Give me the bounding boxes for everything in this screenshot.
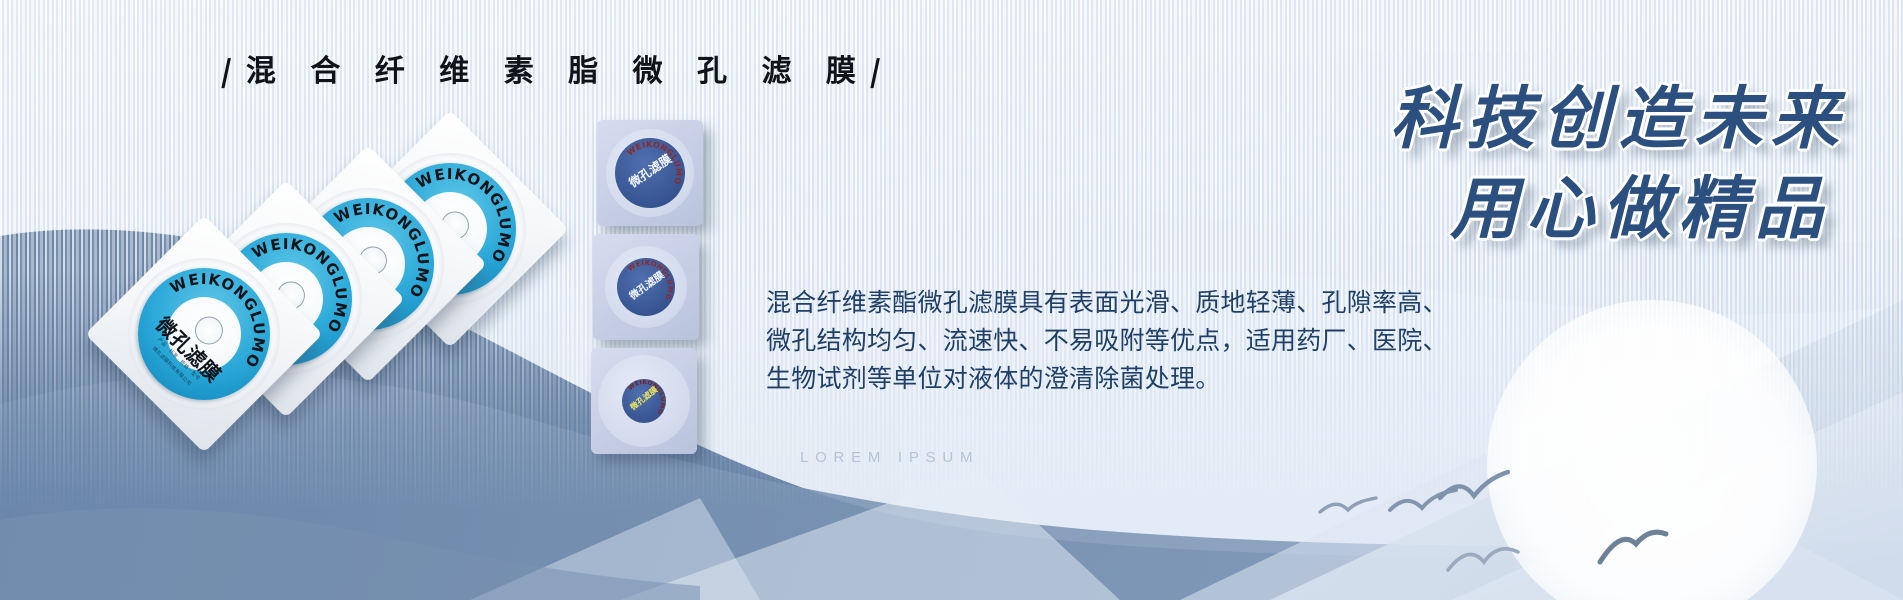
membrane-sample: WEIKONGLUMO 微孔滤膜	[597, 120, 703, 226]
promo-banner: |混 合 纤 维 素 脂 微 孔 滤 膜| WEIKONGLUMO 微孔滤膜	[0, 0, 1903, 600]
description-paragraph: 混合纤维素酯微孔滤膜具有表面光滑、质地轻薄、孔隙率高、 微孔结构均匀、流速快、不…	[766, 284, 1466, 398]
membrane-sample: WEIKONGLUMO 微孔滤膜	[593, 234, 699, 340]
membrane-sample: WEIKONGLUMO 微孔滤膜	[591, 348, 697, 454]
sample-label: WEIKONGLUMO 微孔滤膜	[622, 379, 666, 423]
description-line-2: 微孔结构均匀、流速快、不易吸附等优点，适用药厂、医院、	[766, 322, 1466, 360]
headline-line-2: 用心做精品	[1450, 176, 1831, 244]
bird-icon	[1448, 549, 1518, 570]
membrane-sample-column: WEIKONGLUMO 微孔滤膜 WEIKONGLUMO 微孔滤膜	[591, 120, 721, 450]
product-pack-stack: WEIKONGLUMO 微孔滤膜 产品 · 标准 · 规格 · 型号 微孔滤膜科…	[120, 135, 540, 415]
bird-icon	[1320, 498, 1376, 512]
title-slash-left: |	[215, 54, 249, 89]
title-text: 混 合 纤 维 素 脂 微 孔 滤 膜	[246, 54, 868, 89]
bird-icon	[1600, 532, 1666, 562]
description-line-1: 混合纤维素酯微孔滤膜具有表面光滑、质地轻薄、孔隙率高、	[766, 284, 1466, 322]
watermark-text: LOREM IPSUM	[800, 449, 979, 466]
headline-line-1: 科技创造未来	[1390, 86, 1847, 154]
description-line-3: 生物试剂等单位对液体的澄清除菌处理。	[766, 360, 1466, 398]
sample-label: WEIKONGLUMO 微孔滤膜	[615, 138, 685, 208]
section-title: |混 合 纤 维 素 脂 微 孔 滤 膜|	[219, 46, 895, 90]
bird-icon	[1440, 472, 1508, 498]
sample-label: WEIKONGLUMO 微孔滤膜	[617, 258, 675, 316]
title-slash-right: |	[864, 54, 898, 89]
birds-flock	[1290, 440, 1890, 590]
